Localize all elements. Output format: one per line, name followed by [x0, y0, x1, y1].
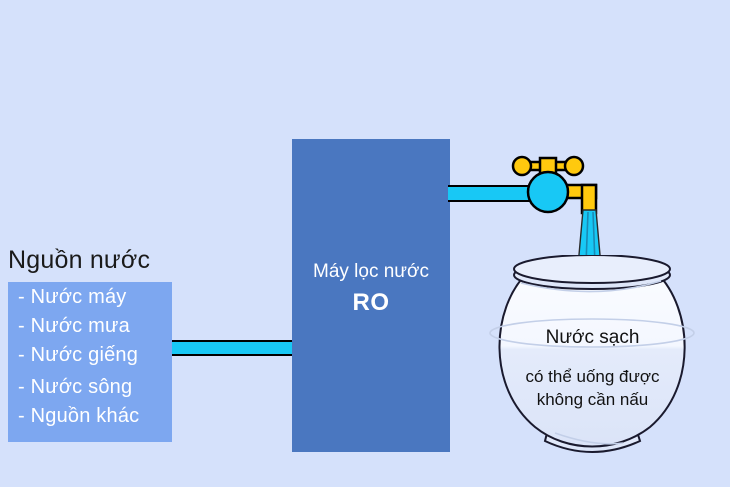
filter-machine-model: RO [292, 289, 450, 317]
source-list-item: - Nguồn khác [18, 405, 139, 428]
water-faucet [502, 140, 622, 270]
jar-body [499, 273, 684, 447]
jar-label-sub1: có thể uống được [485, 367, 700, 387]
diagram-canvas: Nguồn nước - Nước máy - Nước mưa - Nước … [0, 0, 730, 487]
ro-filter-machine: Máy lọc nước RO [292, 139, 450, 452]
jar-rim-opening [514, 255, 670, 283]
water-jar [485, 255, 700, 477]
faucet-spout-neck [582, 185, 596, 213]
faucet-body [528, 172, 568, 212]
source-list-item: - Nước mưa [18, 315, 130, 338]
water-source-box: - Nước máy - Nước mưa - Nước giếng - Nướ… [8, 282, 172, 442]
source-title: Nguồn nước [8, 246, 150, 275]
faucet-handle-knob-right [565, 157, 583, 175]
faucet-handle-knob-left [513, 157, 531, 175]
inlet-pipe [172, 340, 296, 356]
jar-label-main: Nước sạch [485, 327, 700, 349]
jar-label-sub2: không cần nấu [485, 390, 700, 410]
filter-machine-label: Máy lọc nước [292, 261, 450, 283]
source-list-item: - Nước sông [18, 376, 132, 399]
source-list-item: - Nước giếng [18, 344, 138, 367]
source-list-item: - Nước máy [18, 286, 127, 309]
